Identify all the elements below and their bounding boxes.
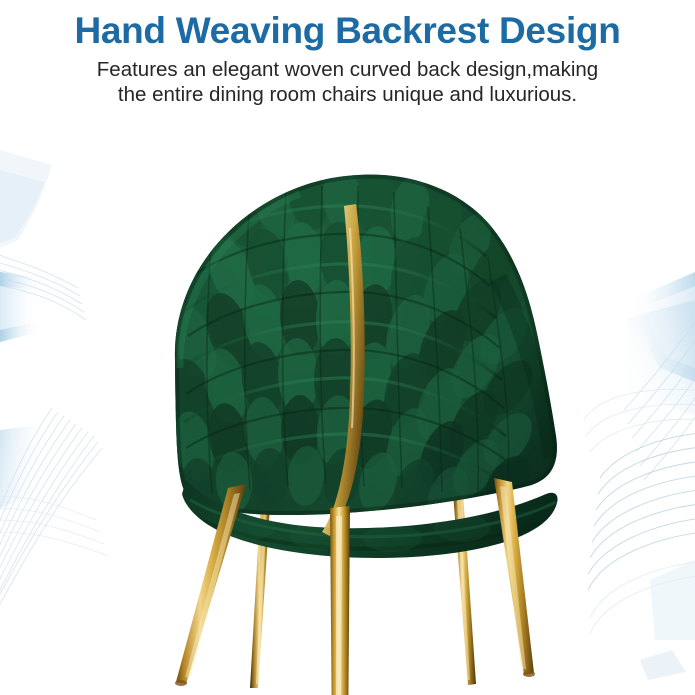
chair-illustration — [0, 128, 695, 695]
product-feature-banner: Hand Weaving Backrest Design Features an… — [0, 0, 695, 695]
banner-header: Hand Weaving Backrest Design Features an… — [0, 0, 695, 107]
chair-backrest — [160, 158, 580, 558]
page-title: Hand Weaving Backrest Design — [0, 0, 695, 53]
weave-texture — [160, 158, 580, 538]
page-subtitle: Features an elegant woven curved back de… — [42, 57, 654, 107]
product-photo — [0, 128, 695, 695]
page-subtitle-line-2: the entire dining room chairs unique and… — [42, 82, 654, 107]
page-subtitle-line-1: Features an elegant woven curved back de… — [42, 57, 654, 82]
